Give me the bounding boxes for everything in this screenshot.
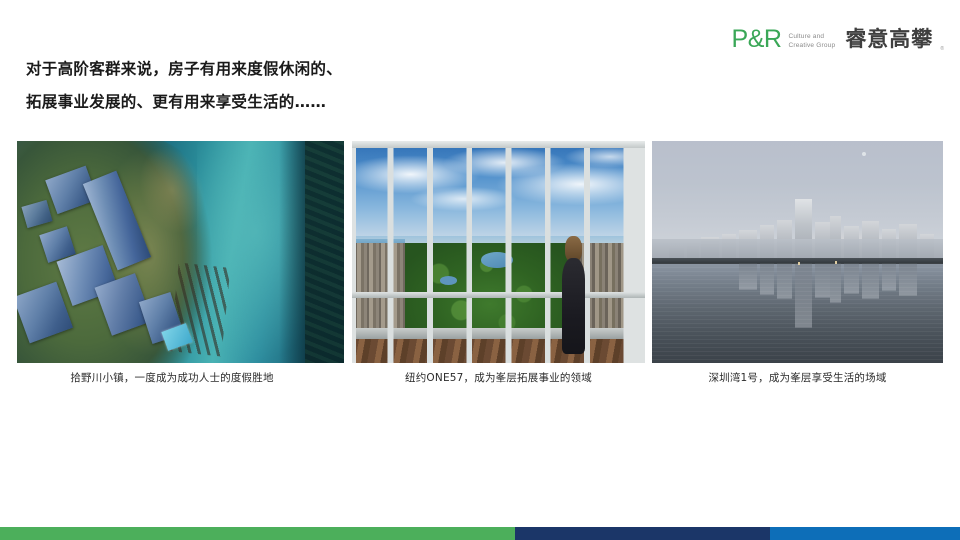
logo-wordmark: P&R — [732, 27, 782, 52]
window-transom — [352, 292, 645, 298]
headline-line-1: 对于高阶客群来说，房子有用来度假休闲的、 — [26, 62, 626, 78]
shenzhen-bay-skyline-reflection-photo — [652, 141, 943, 363]
logo-tagline-line2: Creative Group — [788, 41, 835, 50]
brand-logo: P&R Culture and Creative Group 睿意高攀 ® — [732, 22, 944, 56]
page-title: 对于高阶客群来说，房子有用来度假休闲的、 拓展事业发展的、更有用来享受生活的…… — [26, 62, 626, 127]
gallery-caption-3: 深圳湾1号，成为峯层享受生活的场域 — [652, 372, 943, 385]
logo-tagline-line1: Culture and — [788, 32, 835, 41]
gallery-item-1 — [17, 141, 344, 363]
woman-silhouette — [560, 236, 586, 354]
footer-bar-navy — [515, 527, 770, 540]
window-top-frame — [352, 141, 645, 148]
aerial-resort-peninsula-photo — [17, 141, 344, 363]
far-shore-vegetation — [305, 141, 344, 363]
gallery-item-2 — [352, 141, 645, 363]
footer-bar-blue — [770, 527, 960, 540]
registered-trademark-icon: ® — [940, 46, 944, 56]
window-mullions — [352, 141, 645, 363]
slide-canvas: P&R Culture and Creative Group 睿意高攀 ® 对于… — [0, 0, 960, 540]
gallery-caption-1: 拾野川小镇，一度成为成功人士的度假胜地 — [0, 372, 344, 385]
headline-line-2: 拓展事业发展的、更有用来享受生活的…… — [26, 95, 626, 111]
penthouse-window-central-park-photo — [352, 141, 645, 363]
woman-dress — [562, 258, 585, 354]
footer-bar-green — [0, 527, 515, 540]
logo-chinese-name: 睿意高攀 — [842, 29, 933, 50]
footer-color-bar — [0, 527, 960, 540]
moon-icon — [862, 152, 866, 156]
water-shimmer — [652, 263, 943, 363]
image-gallery — [17, 141, 943, 363]
gallery-caption-2: 纽约ONE57，成为峯层拓展事业的领域 — [352, 372, 645, 385]
logo-tagline: Culture and Creative Group — [788, 28, 835, 51]
gallery-item-3 — [652, 141, 943, 363]
